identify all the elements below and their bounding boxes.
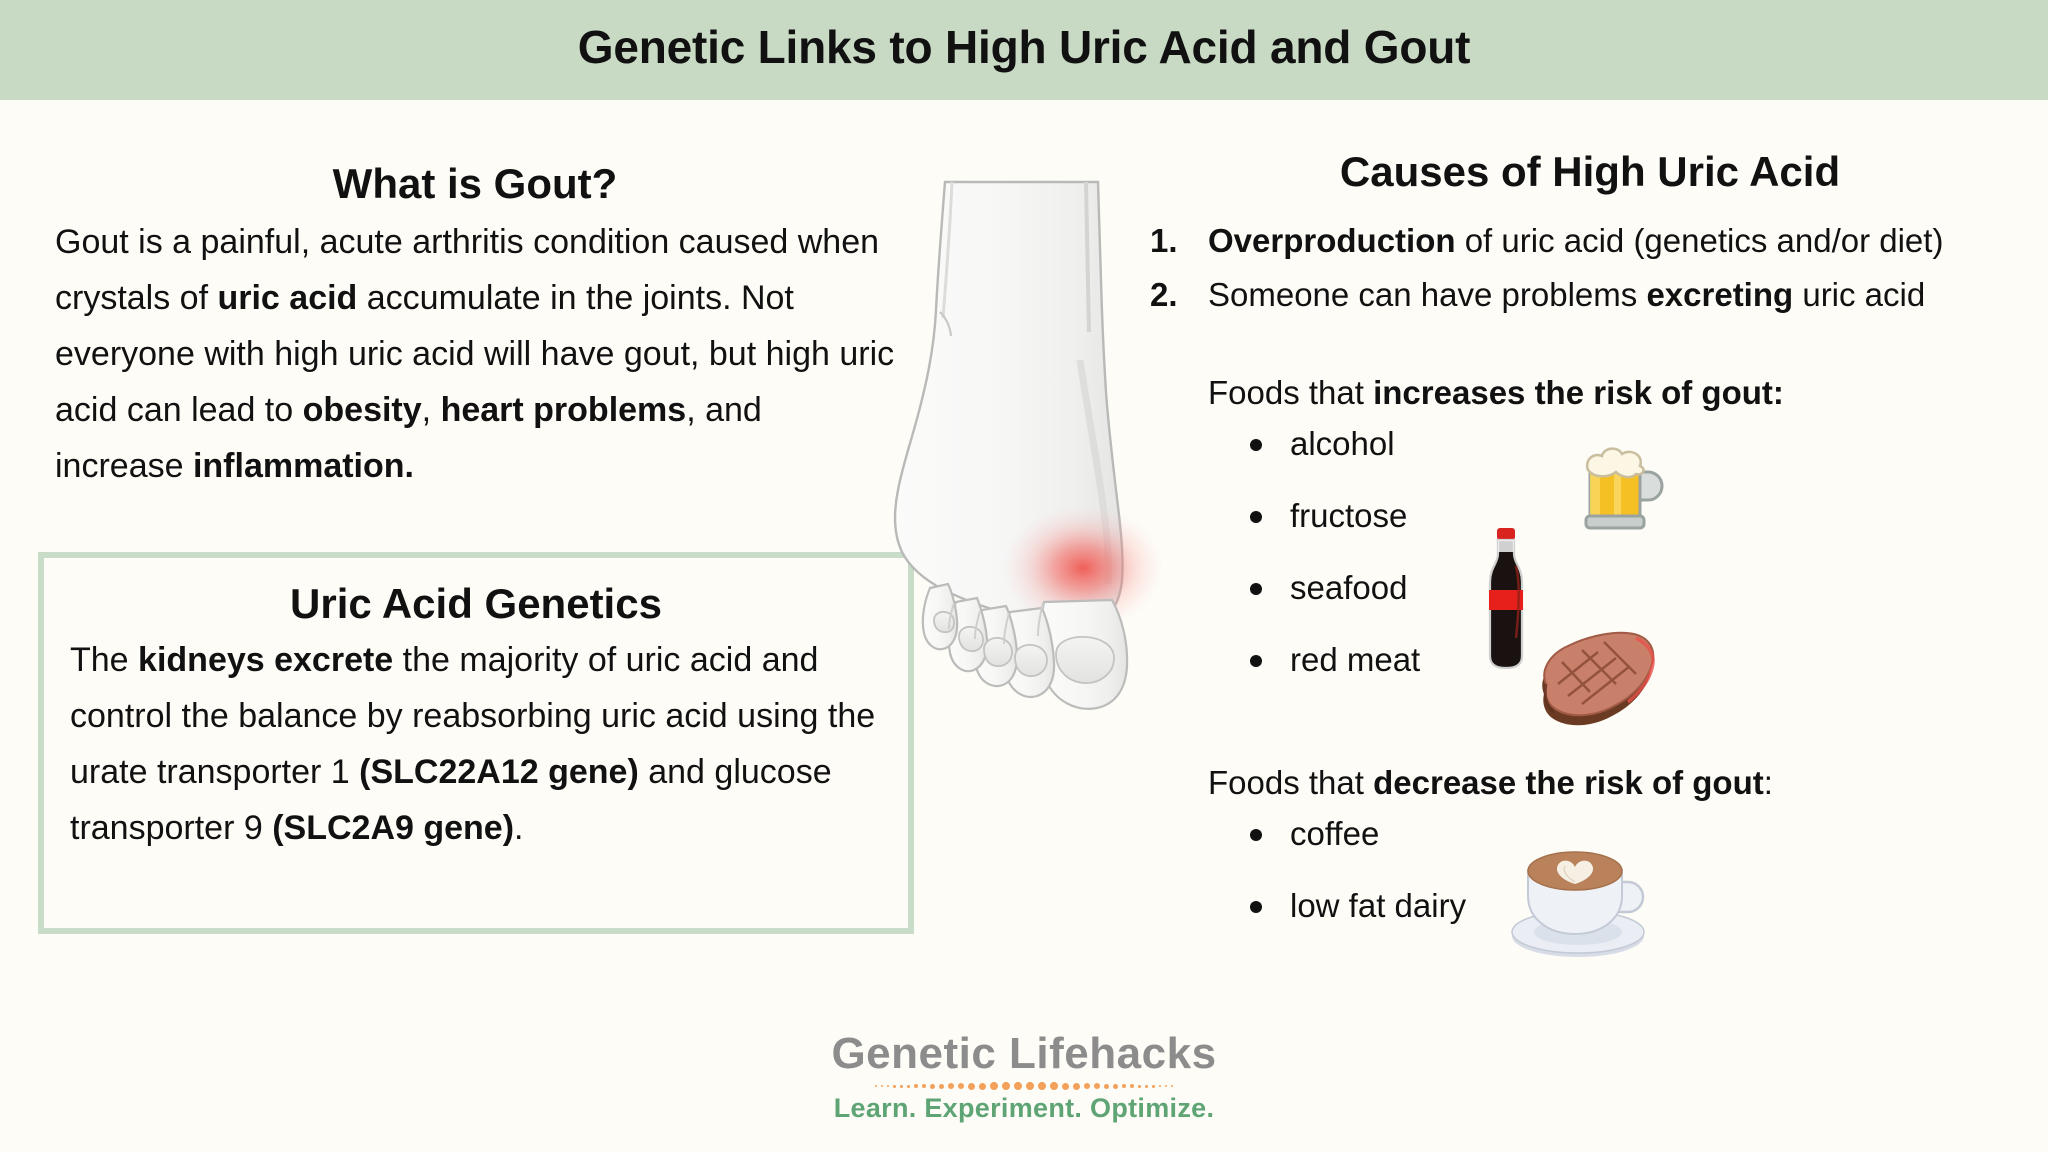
uric-acid-genetics-paragraph: The kidneys excrete the majority of uric… bbox=[70, 632, 882, 856]
list-item: 2. Someone can have problems excreting u… bbox=[1150, 268, 2030, 322]
foods-decrease-heading: Foods that decrease the risk of gout: bbox=[1208, 764, 2030, 802]
what-is-gout-heading: What is Gout? bbox=[55, 160, 895, 208]
list-item: low fat dairy bbox=[1250, 888, 2030, 960]
list-item: alcohol bbox=[1250, 426, 2030, 498]
uric-acid-genetics-heading: Uric Acid Genetics bbox=[70, 580, 882, 628]
what-is-gout-section: What is Gout? Gout is a painful, acute a… bbox=[55, 160, 895, 494]
list-item: coffee bbox=[1250, 816, 2030, 888]
brand-tagline: Learn. Experiment. Optimize. bbox=[0, 1093, 2048, 1124]
page-title: Genetic Links to High Uric Acid and Gout bbox=[0, 20, 2048, 74]
list-item: fructose bbox=[1250, 498, 2030, 570]
brand-dots-divider bbox=[0, 1081, 2048, 1091]
gout-foot-illustration bbox=[880, 160, 1180, 760]
list-item: seafood bbox=[1250, 570, 2030, 642]
list-number: 1. bbox=[1150, 214, 1208, 268]
causes-section: Causes of High Uric Acid 1. Overproducti… bbox=[1150, 148, 2030, 960]
foods-increase-heading: Foods that increases the risk of gout: bbox=[1208, 374, 2030, 412]
brand-name: Genetic Lifehacks bbox=[0, 1030, 2048, 1078]
infographic-page: Genetic Links to High Uric Acid and Gout… bbox=[0, 0, 2048, 1152]
list-text: Overproduction of uric acid (genetics an… bbox=[1208, 214, 1943, 268]
causes-heading: Causes of High Uric Acid bbox=[1150, 148, 2030, 196]
uric-acid-genetics-box: Uric Acid Genetics The kidneys excrete t… bbox=[38, 552, 914, 934]
causes-list: 1. Overproduction of uric acid (genetics… bbox=[1150, 214, 2030, 322]
list-number: 2. bbox=[1150, 268, 1208, 322]
list-text: Someone can have problems excreting uric… bbox=[1208, 268, 1925, 322]
list-item: red meat bbox=[1250, 642, 2030, 714]
brand-logo: Genetic Lifehacks Learn. Experiment. Opt… bbox=[0, 1030, 2048, 1124]
what-is-gout-paragraph: Gout is a painful, acute arthritis condi… bbox=[55, 214, 895, 494]
list-item: 1. Overproduction of uric acid (genetics… bbox=[1150, 214, 2030, 268]
foods-decrease-list: coffee low fat dairy bbox=[1150, 816, 2030, 960]
foods-increase-list: alcohol fructose seafood red meat bbox=[1150, 426, 2030, 714]
